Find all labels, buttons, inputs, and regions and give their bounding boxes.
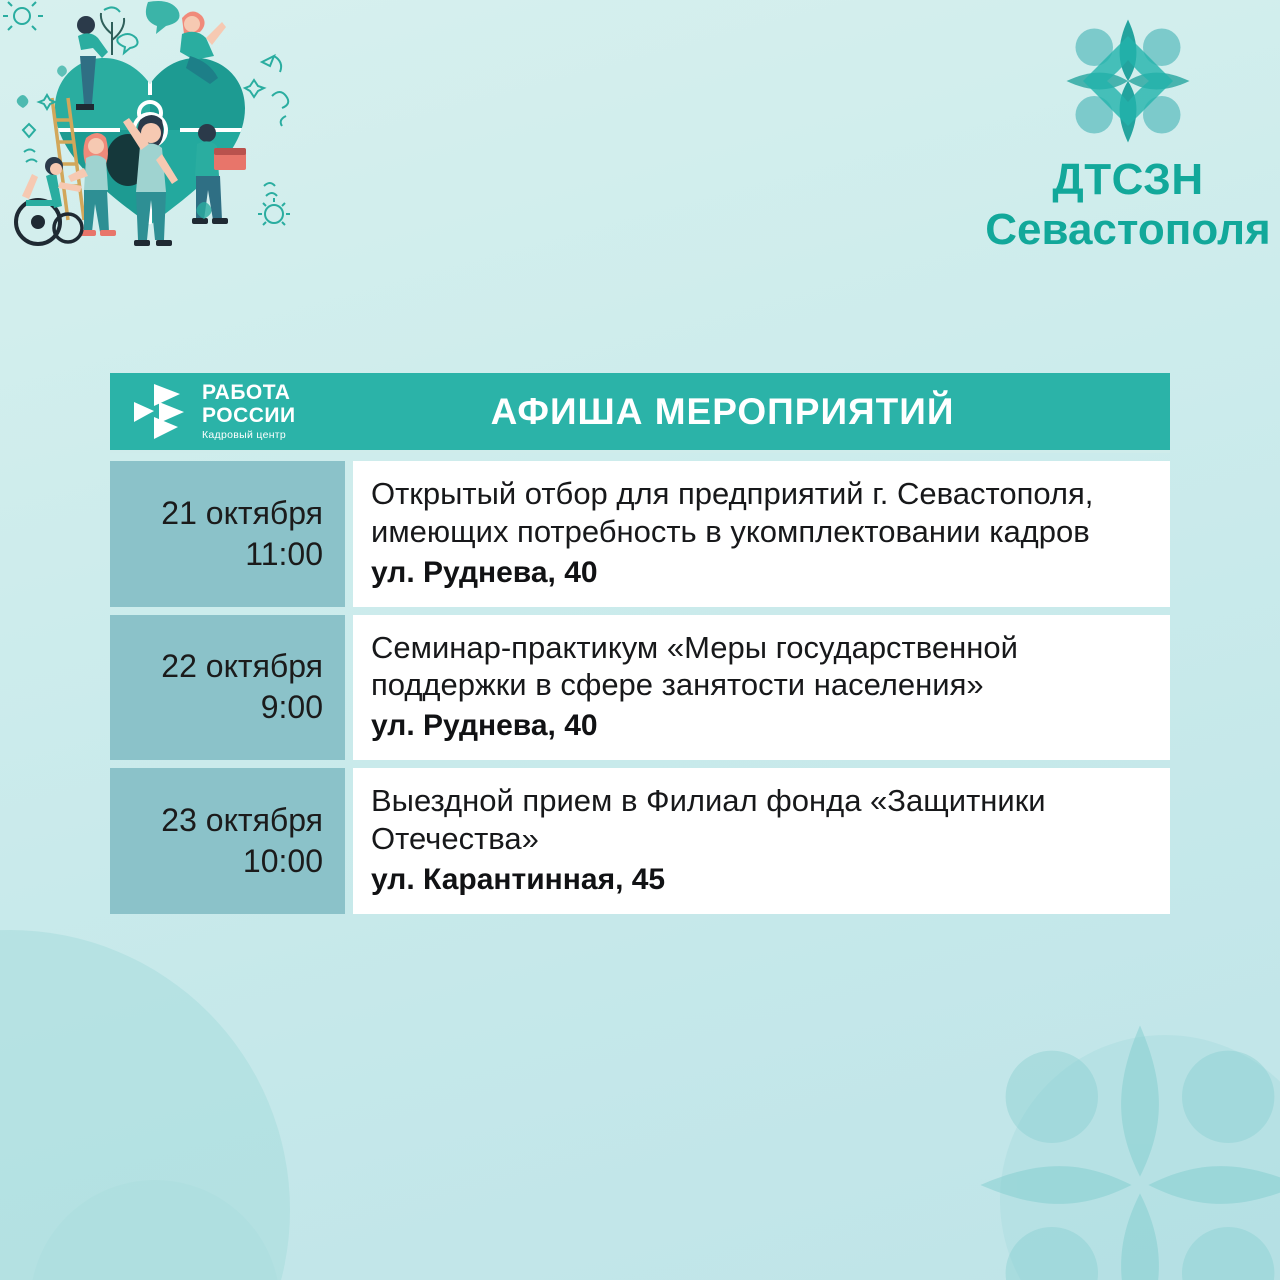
rabota-rossii-logo: РАБОТА РОССИИ Кадровый центр: [110, 373, 345, 450]
event-address: ул. Руднева, 40: [371, 708, 1148, 744]
dtszn-star-watermark-icon: [930, 975, 1280, 1280]
inclusion-heart-puzzle-illustration: [0, 0, 300, 250]
brand-name-line-1: ДТСЗН: [984, 158, 1272, 202]
rabota-rossii-subtitle: Кадровый центр: [202, 430, 296, 441]
event-date-cell: 21 октября 11:00: [110, 461, 345, 607]
event-date: 23 октября: [161, 800, 323, 841]
event-title: Открытый отбор для предприятий г. Севаст…: [371, 475, 1148, 551]
dtszn-brand-block: ДТСЗН Севастополя: [984, 6, 1272, 252]
table-row: 23 октября 10:00 Выездной прием в Филиал…: [110, 768, 1170, 914]
event-body-cell: Выездной прием в Филиал фонда «Защитники…: [353, 768, 1170, 914]
event-time: 11:00: [245, 534, 323, 575]
event-address: ул. Карантинная, 45: [371, 862, 1148, 898]
event-body-cell: Семинар-практикум «Меры государственной …: [353, 615, 1170, 761]
event-time: 10:00: [243, 841, 323, 882]
rabota-rossii-line-2: РОССИИ: [202, 405, 296, 426]
poster-title: АФИША МЕРОПРИЯТИЙ: [345, 391, 1170, 433]
event-address: ул. Руднева, 40: [371, 555, 1148, 591]
rabota-rossii-wordmark: РАБОТА РОССИИ Кадровый центр: [202, 382, 296, 441]
event-date: 22 октября: [161, 646, 323, 687]
table-row: 21 октября 11:00 Открытый отбор для пред…: [110, 461, 1170, 607]
event-title: Семинар-практикум «Меры государственной …: [371, 629, 1148, 705]
poster-header: РАБОТА РОССИИ Кадровый центр АФИША МЕРОП…: [110, 373, 1170, 453]
rabota-rossii-line-1: РАБОТА: [202, 382, 296, 403]
event-date-cell: 22 октября 9:00: [110, 615, 345, 761]
event-title: Выездной прием в Филиал фонда «Защитники…: [371, 782, 1148, 858]
event-body-cell: Открытый отбор для предприятий г. Севаст…: [353, 461, 1170, 607]
event-time: 9:00: [261, 687, 323, 728]
event-date: 21 октября: [161, 493, 323, 534]
event-date-cell: 23 октября 10:00: [110, 768, 345, 914]
dtszn-star-icon: [1053, 6, 1203, 156]
table-row: 22 октября 9:00 Семинар-практикум «Меры …: [110, 615, 1170, 761]
brand-name-line-2: Севастополя: [984, 208, 1272, 252]
rabota-rossii-triangles-icon: [132, 382, 192, 442]
events-poster: РАБОТА РОССИИ Кадровый центр АФИША МЕРОП…: [110, 373, 1170, 914]
